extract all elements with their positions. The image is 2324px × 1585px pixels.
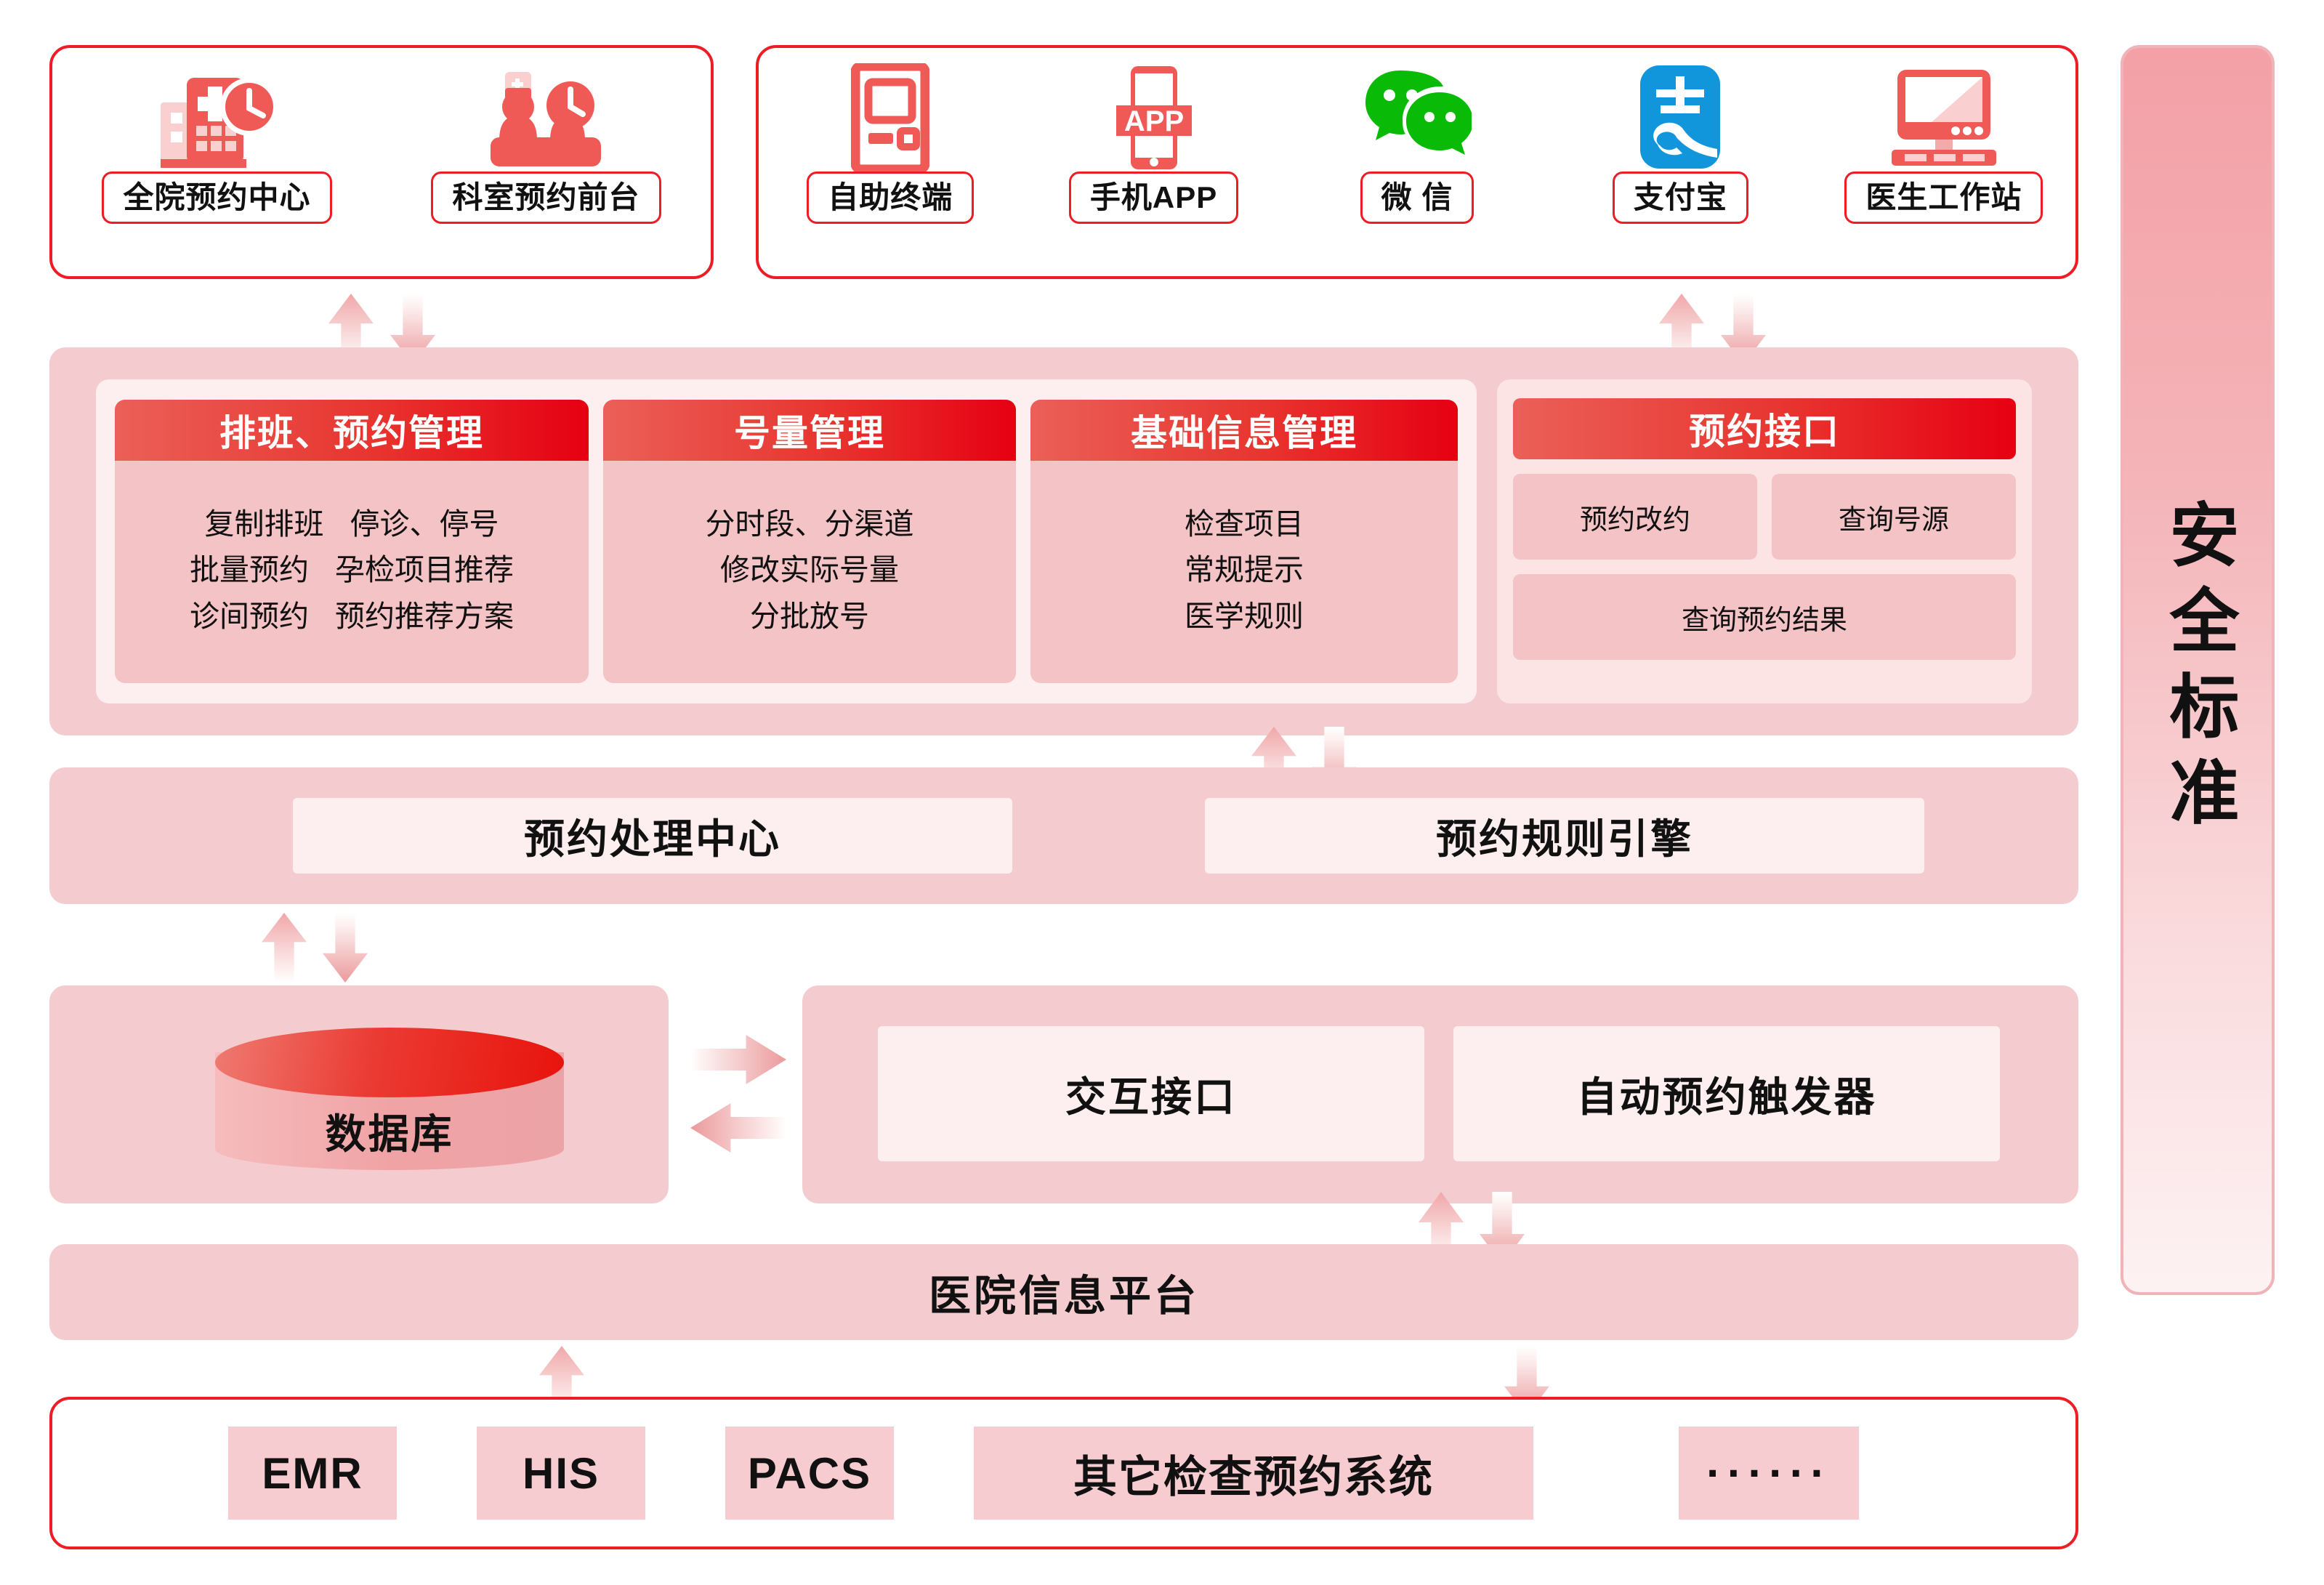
channel-label: 科室预约前台 bbox=[431, 172, 661, 224]
management-layer-panel: 排班、预约管理 复制排班停诊、停号 批量预约孕检项目推荐 诊间预约预约推荐方案 … bbox=[49, 347, 2078, 735]
arrow-right-database-to-interface bbox=[690, 1035, 786, 1084]
appointment-interface-card[interactable]: 预约接口 预约改约 查询号源 查询预约结果 bbox=[1497, 379, 2032, 703]
card-title: 基础信息管理 bbox=[1030, 400, 1458, 461]
card-item: 预约推荐方案 bbox=[335, 597, 514, 637]
channel-label: 手机APP bbox=[1069, 172, 1238, 224]
api-chip-query-result[interactable]: 查询预约结果 bbox=[1513, 574, 2016, 660]
api-chip-query-slots[interactable]: 查询号源 bbox=[1772, 474, 2016, 560]
digital-channel-panel: 自助终端 APP 手机APP bbox=[756, 45, 2078, 279]
card-row: 常规提示 bbox=[1038, 550, 1451, 590]
database-cylinder[interactable]: 数据库 bbox=[215, 1028, 564, 1170]
source-system-more-ellipsis: ······ bbox=[1679, 1427, 1859, 1520]
management-cards-container: 排班、预约管理 复制排班停诊、停号 批量预约孕检项目推荐 诊间预约预约推荐方案 … bbox=[96, 379, 1477, 703]
card-row: 检查项目 bbox=[1038, 504, 1451, 544]
channel-label: 自助终端 bbox=[807, 172, 974, 224]
channel-label: 医生工作站 bbox=[1844, 172, 2043, 224]
card-row: 医学规则 bbox=[1038, 597, 1451, 637]
alipay-icon bbox=[1636, 64, 1724, 172]
data-layer-interface-panel: 交互接口 自动预约触发器 bbox=[802, 985, 2078, 1203]
arrow-up-data-to-processing bbox=[262, 913, 307, 983]
channel-label: 微 信 bbox=[1360, 172, 1474, 224]
channel-label: 全院预约中心 bbox=[102, 172, 331, 224]
processing-box-rule-engine[interactable]: 预约规则引擎 bbox=[1205, 798, 1924, 874]
hospital-information-platform-panel: 医院信息平台 bbox=[49, 1244, 2078, 1340]
database-top-ellipse bbox=[215, 1028, 564, 1097]
hospital-clock-icon bbox=[156, 64, 278, 172]
card-row: 批量预约孕检项目推荐 bbox=[122, 550, 581, 590]
channel-item-mobile-app[interactable]: APP 手机APP bbox=[1022, 48, 1285, 276]
card-body: 分时段、分渠道 修改实际号量 分批放号 bbox=[603, 461, 1016, 683]
channel-item-alipay[interactable]: 支付宝 bbox=[1549, 48, 1812, 276]
card-item: 分时段、分渠道 bbox=[706, 504, 914, 544]
source-systems-panel: EMR HIS PACS 其它检查预约系统 ······ bbox=[49, 1397, 2078, 1549]
security-standard-sidebar: 安全标准 bbox=[2121, 45, 2275, 1295]
source-system-his[interactable]: HIS bbox=[477, 1427, 645, 1520]
card-item: 修改实际号量 bbox=[720, 550, 899, 590]
management-card-scheduling[interactable]: 排班、预约管理 复制排班停诊、停号 批量预约孕检项目推荐 诊间预约预约推荐方案 bbox=[115, 400, 589, 683]
card-title: 预约接口 bbox=[1513, 398, 2016, 459]
card-body: 复制排班停诊、停号 批量预约孕检项目推荐 诊间预约预约推荐方案 bbox=[115, 461, 589, 683]
wechat-icon bbox=[1363, 64, 1472, 172]
processing-box-appointment-center[interactable]: 预约处理中心 bbox=[293, 798, 1012, 874]
channel-item-self-service-kiosk[interactable]: 自助终端 bbox=[759, 48, 1022, 276]
channel-label: 支付宝 bbox=[1613, 172, 1748, 224]
card-body: 检查项目 常规提示 医学规则 bbox=[1030, 461, 1458, 683]
card-row: 修改实际号量 bbox=[610, 550, 1009, 590]
card-item: 分批放号 bbox=[750, 597, 869, 637]
source-system-other-exam-booking[interactable]: 其它检查预约系统 bbox=[974, 1427, 1533, 1520]
channel-item-wechat[interactable]: 微 信 bbox=[1286, 48, 1549, 276]
onsite-channel-panel: 全院预约中心 科室预约前台 bbox=[49, 45, 714, 279]
reception-desk-clock-icon bbox=[477, 64, 616, 172]
card-item: 医学规则 bbox=[1185, 597, 1304, 637]
api-chip-row-2: 查询预约结果 bbox=[1513, 574, 2016, 660]
card-item: 常规提示 bbox=[1185, 550, 1304, 590]
security-standard-label: 安全标准 bbox=[2163, 499, 2232, 842]
card-item: 孕检项目推荐 bbox=[335, 550, 514, 590]
card-item: 检查项目 bbox=[1185, 504, 1304, 544]
database-label: 数据库 bbox=[215, 1102, 564, 1161]
source-system-emr[interactable]: EMR bbox=[228, 1427, 397, 1520]
card-item: 复制排班 bbox=[205, 504, 324, 544]
channel-item-department-reception[interactable]: 科室预约前台 bbox=[382, 48, 711, 276]
card-row: 分时段、分渠道 bbox=[610, 504, 1009, 544]
platform-label: 医院信息平台 bbox=[929, 1262, 1199, 1323]
self-service-kiosk-icon bbox=[851, 64, 929, 172]
card-item: 停诊、停号 bbox=[350, 504, 499, 544]
api-chip-modify-appointment[interactable]: 预约改约 bbox=[1513, 474, 1757, 560]
management-card-basic-info[interactable]: 基础信息管理 检查项目 常规提示 医学规则 bbox=[1030, 400, 1458, 683]
svg-text:APP: APP bbox=[1123, 105, 1183, 137]
data-box-auto-appointment-trigger[interactable]: 自动预约触发器 bbox=[1453, 1026, 2000, 1161]
channel-item-doctor-workstation[interactable]: 医生工作站 bbox=[1812, 48, 2075, 276]
arrow-left-interface-to-database bbox=[690, 1103, 786, 1153]
arrow-down-processing-to-data bbox=[323, 913, 368, 983]
card-title: 号量管理 bbox=[603, 400, 1016, 461]
mobile-app-icon: APP bbox=[1110, 64, 1198, 172]
desktop-monitor-icon bbox=[1886, 64, 2002, 172]
data-box-interaction-interface[interactable]: 交互接口 bbox=[878, 1026, 1424, 1161]
source-system-pacs[interactable]: PACS bbox=[725, 1427, 894, 1520]
processing-layer-panel: 预约处理中心 预约规则引擎 bbox=[49, 767, 2078, 904]
card-item: 批量预约 bbox=[190, 550, 309, 590]
channel-item-hospital-appointment-center[interactable]: 全院预约中心 bbox=[52, 48, 382, 276]
card-row: 分批放号 bbox=[610, 597, 1009, 637]
management-card-quota[interactable]: 号量管理 分时段、分渠道 修改实际号量 分批放号 bbox=[603, 400, 1016, 683]
card-row: 复制排班停诊、停号 bbox=[122, 504, 581, 544]
api-chip-row-1: 预约改约 查询号源 bbox=[1513, 474, 2016, 560]
card-title: 排班、预约管理 bbox=[115, 400, 589, 461]
data-layer-database-panel: 数据库 bbox=[49, 985, 669, 1203]
card-row: 诊间预约预约推荐方案 bbox=[122, 597, 581, 637]
card-item: 诊间预约 bbox=[190, 597, 309, 637]
